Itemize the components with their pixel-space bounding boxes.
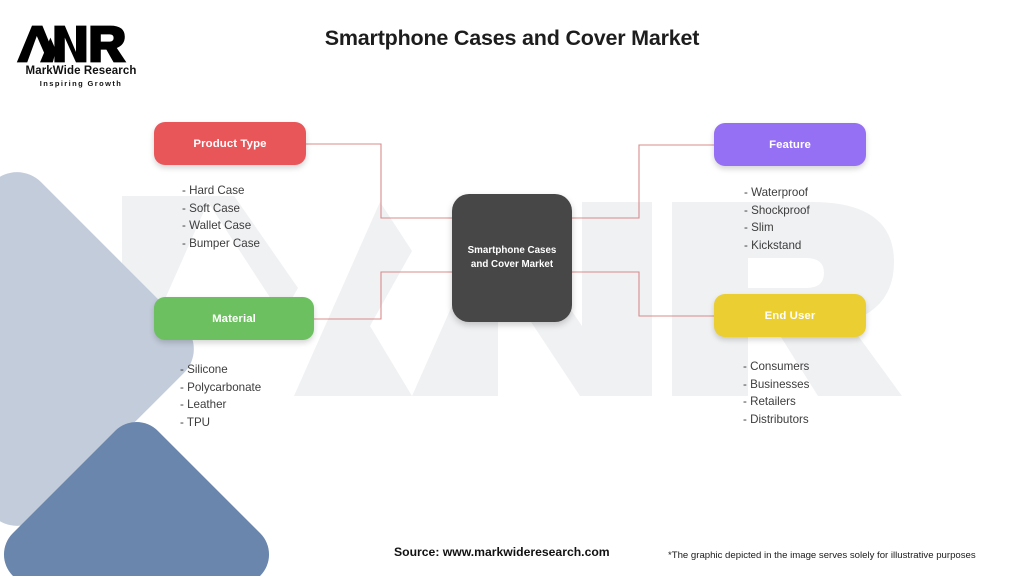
list-item: - Leather	[180, 396, 314, 414]
center-node-line2: and Cover Market	[471, 259, 553, 270]
connector-material	[314, 272, 452, 319]
list-item: - Hard Case	[182, 182, 306, 200]
center-node-label: Smartphone Cases and Cover Market	[460, 244, 565, 272]
list-item: - Silicone	[180, 361, 314, 379]
logo-company-name: MarkWide Research	[16, 65, 146, 77]
list-item: - Waterproof	[744, 184, 866, 202]
connector-end-user	[572, 272, 714, 316]
branch-label-material: Material	[212, 313, 256, 325]
list-item: - Distributors	[743, 411, 866, 429]
center-node-line1: Smartphone Cases	[468, 245, 557, 256]
branch-items-product-type: - Hard Case - Soft Case - Wallet Case - …	[182, 182, 306, 252]
decor-square-dark	[0, 410, 281, 576]
list-item: - Kickstand	[744, 237, 866, 255]
infographic-canvas: MarkWide Research Inspiring Growth Smart…	[0, 0, 1024, 576]
page-title: Smartphone Cases and Cover Market	[0, 26, 1024, 51]
branch-label-feature: Feature	[769, 139, 811, 151]
branch-header-product-type[interactable]: Product Type	[154, 122, 306, 165]
branch-end-user: End User - Consumers - Businesses - Reta…	[714, 294, 866, 428]
branch-header-feature[interactable]: Feature	[714, 123, 866, 166]
center-node[interactable]: Smartphone Cases and Cover Market	[452, 194, 572, 322]
footer-disclaimer: *The graphic depicted in the image serve…	[668, 550, 976, 561]
footer-source: Source: www.markwideresearch.com	[394, 545, 610, 559]
branch-label-product-type: Product Type	[193, 138, 266, 150]
branch-label-end-user: End User	[765, 310, 816, 322]
list-item: - Businesses	[743, 376, 866, 394]
list-item: - Retailers	[743, 393, 866, 411]
list-item: - Shockproof	[744, 202, 866, 220]
branch-items-material: - Silicone - Polycarbonate - Leather - T…	[180, 361, 314, 431]
connector-feature	[572, 145, 714, 218]
branch-header-end-user[interactable]: End User	[714, 294, 866, 337]
connector-product-type	[306, 144, 452, 218]
list-item: - Consumers	[743, 358, 866, 376]
branch-product-type: Product Type - Hard Case - Soft Case - W…	[154, 122, 306, 252]
list-item: - Bumper Case	[182, 235, 306, 253]
list-item: - Wallet Case	[182, 217, 306, 235]
list-item: - TPU	[180, 414, 314, 432]
branch-feature: Feature - Waterproof - Shockproof - Slim…	[714, 123, 866, 254]
logo-tagline: Inspiring Growth	[16, 79, 146, 88]
list-item: - Soft Case	[182, 200, 306, 218]
branch-items-end-user: - Consumers - Businesses - Retailers - D…	[743, 358, 866, 428]
list-item: - Slim	[744, 219, 866, 237]
branch-header-material[interactable]: Material	[154, 297, 314, 340]
list-item: - Polycarbonate	[180, 379, 314, 397]
branch-items-feature: - Waterproof - Shockproof - Slim - Kicks…	[744, 184, 866, 254]
branch-material: Material - Silicone - Polycarbonate - Le…	[154, 297, 314, 431]
